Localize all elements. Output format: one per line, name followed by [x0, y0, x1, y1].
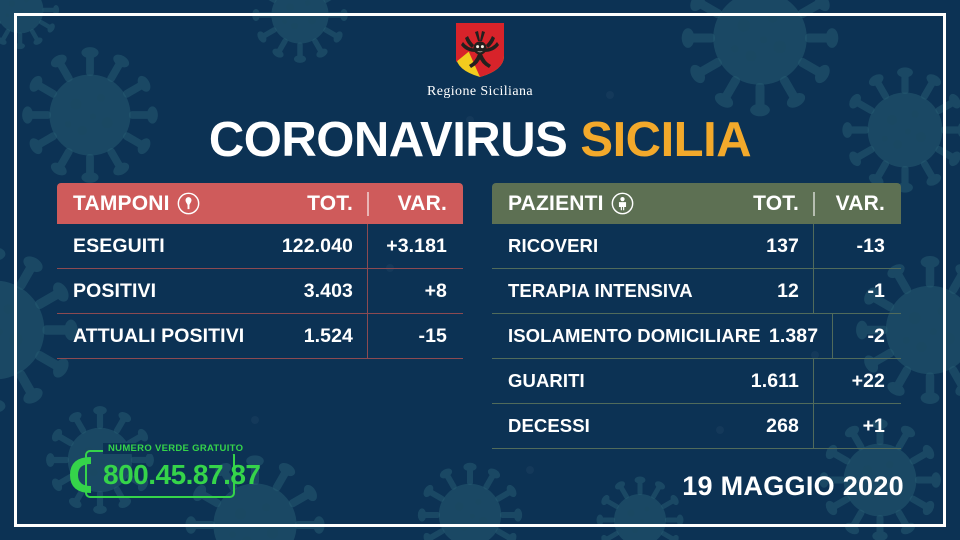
table-row: TERAPIA INTENSIVA 12 -1 [492, 269, 901, 314]
row-label: TERAPIA INTENSIVA [492, 280, 715, 302]
row-variation: +8 [367, 269, 463, 313]
table-pazienti: PAZIENTI TOT. VAR. RICOVERI 137 -13 TERA… [492, 183, 901, 449]
row-variation: -13 [813, 224, 901, 268]
table-row: ATTUALI POSITIVI 1.524 -15 [57, 314, 463, 359]
hotline-number[interactable]: 800.45.87.87 [103, 459, 261, 491]
row-total: 122.040 [249, 235, 367, 258]
hotline-box: NUMERO VERDE GRATUITO 800.45.87.87 [57, 450, 235, 498]
row-total: 1.387 [761, 325, 833, 348]
table-pazienti-col-tot: TOT. [715, 192, 813, 216]
swab-test-icon [177, 192, 200, 215]
page-title-accent: SICILIA [580, 113, 751, 167]
table-pazienti-title: PAZIENTI [508, 192, 604, 216]
page-title: CORONAVIRUS SICILIA [0, 116, 960, 165]
row-total: 1.611 [715, 370, 813, 393]
row-label: DECESSI [492, 415, 715, 437]
page-title-main: CORONAVIRUS [209, 113, 567, 167]
patient-person-icon [611, 192, 634, 215]
table-row: ISOLAMENTO DOMICILIARE 1.387 -2 [492, 314, 901, 359]
institution-header: Regione Siciliana [0, 22, 960, 100]
table-tamponi-col-tot: TOT. [249, 192, 367, 216]
table-pazienti-col-var: VAR. [813, 192, 901, 216]
table-row: RICOVERI 137 -13 [492, 224, 901, 269]
table-tamponi-title: TAMPONI [73, 192, 170, 216]
row-label: ATTUALI POSITIVI [57, 325, 249, 348]
row-variation: -1 [813, 269, 901, 313]
row-total: 268 [715, 415, 813, 438]
row-variation: -15 [367, 314, 463, 358]
table-row: GUARITI 1.611 +22 [492, 359, 901, 404]
row-total: 3.403 [249, 280, 367, 303]
report-date: 19 MAGGIO 2020 [682, 471, 904, 502]
row-label: POSITIVI [57, 280, 249, 303]
sicilian-trinacria-coat-of-arms-icon [455, 22, 505, 78]
table-tamponi: TAMPONI TOT. VAR. ESEGUITI 122.040 +3.18… [57, 183, 463, 359]
hotline-label: NUMERO VERDE GRATUITO [103, 443, 248, 454]
table-tamponi-col-var: VAR. [367, 192, 463, 216]
table-pazienti-title-cell: PAZIENTI [492, 192, 715, 216]
row-label: RICOVERI [492, 235, 715, 257]
table-tamponi-title-cell: TAMPONI [57, 192, 249, 216]
table-tamponi-header: TAMPONI TOT. VAR. [57, 183, 463, 224]
row-label: GUARITI [492, 370, 715, 392]
table-row: ESEGUITI 122.040 +3.181 [57, 224, 463, 269]
row-label: ESEGUITI [57, 235, 249, 258]
row-total: 137 [715, 235, 813, 258]
row-label: ISOLAMENTO DOMICILIARE [492, 325, 761, 347]
row-variation: +22 [813, 359, 901, 403]
table-row: POSITIVI 3.403 +8 [57, 269, 463, 314]
row-total: 1.524 [249, 325, 367, 348]
row-variation: -2 [832, 314, 901, 358]
table-row: DECESSI 268 +1 [492, 404, 901, 449]
table-pazienti-header: PAZIENTI TOT. VAR. [492, 183, 901, 224]
institution-name: Regione Siciliana [427, 84, 533, 100]
phone-icon [61, 454, 95, 496]
row-variation: +1 [813, 404, 901, 448]
row-variation: +3.181 [367, 224, 463, 268]
row-total: 12 [715, 280, 813, 303]
